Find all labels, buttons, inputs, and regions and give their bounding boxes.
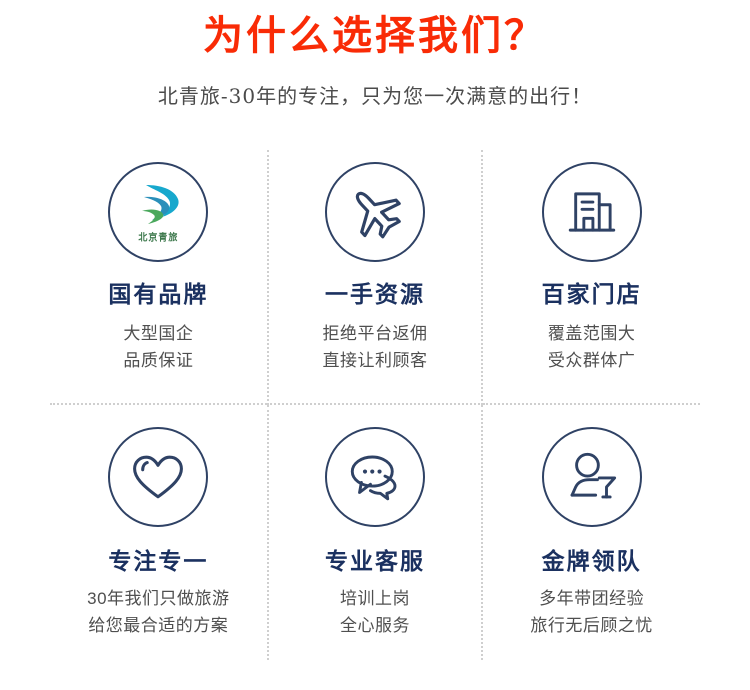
brand-mark-icon xyxy=(130,181,186,229)
icon-circle xyxy=(542,162,642,262)
feature-line: 直接让利顾客 xyxy=(322,348,427,374)
feature-line: 大型国企 xyxy=(123,321,193,347)
feature-line: 30年我们只做旅游 xyxy=(87,586,229,612)
feature-card-guide: 金牌领队 多年带团经验 旅行无后顾之忧 xyxy=(483,405,700,660)
feature-grid: 北京青旅 国有品牌 大型国企 品质保证 一手资源 拒绝平台返佣 直接让利 xyxy=(50,150,700,660)
airplane-icon xyxy=(345,182,405,242)
feature-title: 金牌领队 xyxy=(542,549,642,574)
page-title: 为什么选择我们？ xyxy=(0,14,750,58)
feature-card-focus: 专注专一 30年我们只做旅游 给您最合适的方案 xyxy=(50,405,267,660)
page-header: 为什么选择我们？ 北青旅-30年的专注，只为您一次满意的出行！ xyxy=(0,0,750,108)
feature-line: 培训上岗 xyxy=(340,586,410,612)
feature-line: 多年带团经验 xyxy=(530,586,653,612)
brand-logo-icon: 北京青旅 xyxy=(121,175,195,249)
feature-line: 拒绝平台返佣 xyxy=(322,321,427,347)
feature-card-stores: 百家门店 覆盖范围大 受众群体广 xyxy=(483,150,700,405)
feature-description: 覆盖范围大 受众群体广 xyxy=(548,321,636,374)
promo-page: 为什么选择我们？ 北青旅-30年的专注，只为您一次满意的出行！ 北京青旅 国有品… xyxy=(0,0,750,690)
feature-description: 多年带团经验 旅行无后顾之忧 xyxy=(530,586,653,639)
icon-circle xyxy=(542,427,642,527)
icon-circle xyxy=(108,427,208,527)
feature-description: 大型国企 品质保证 xyxy=(123,321,193,374)
brand-wordmark: 北京青旅 xyxy=(138,229,178,243)
heart-icon xyxy=(129,450,187,504)
icon-circle xyxy=(325,427,425,527)
feature-title: 专注专一 xyxy=(108,549,208,574)
feature-title: 专业客服 xyxy=(325,549,425,574)
building-icon xyxy=(563,183,621,241)
icon-circle xyxy=(325,162,425,262)
feature-card-service: 专业客服 培训上岗 全心服务 xyxy=(267,405,484,660)
feature-card-brand: 北京青旅 国有品牌 大型国企 品质保证 xyxy=(50,150,267,405)
icon-circle: 北京青旅 xyxy=(108,162,208,262)
feature-title: 国有品牌 xyxy=(108,282,208,307)
feature-line: 品质保证 xyxy=(123,348,193,374)
feature-card-resources: 一手资源 拒绝平台返佣 直接让利顾客 xyxy=(267,150,484,405)
feature-line: 给您最合适的方案 xyxy=(87,613,229,639)
feature-line: 全心服务 xyxy=(340,613,410,639)
chat-bubbles-icon xyxy=(345,449,405,505)
page-subtitle: 北青旅-30年的专注，只为您一次满意的出行！ xyxy=(0,84,750,108)
feature-description: 培训上岗 全心服务 xyxy=(340,586,410,639)
feature-title: 一手资源 xyxy=(325,282,425,307)
feature-line: 覆盖范围大 xyxy=(548,321,636,347)
tour-guide-icon xyxy=(563,449,621,505)
feature-title: 百家门店 xyxy=(542,282,642,307)
feature-description: 30年我们只做旅游 给您最合适的方案 xyxy=(87,586,229,639)
feature-line: 旅行无后顾之忧 xyxy=(530,613,653,639)
feature-description: 拒绝平台返佣 直接让利顾客 xyxy=(322,321,427,374)
feature-line: 受众群体广 xyxy=(548,348,636,374)
